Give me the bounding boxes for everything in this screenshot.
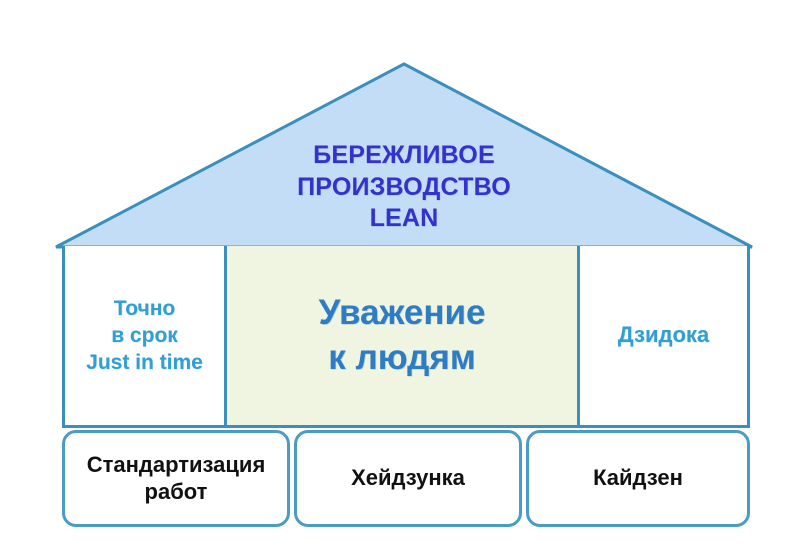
foundation-box-kaizen[interactable]: Кайдзен [526,430,750,527]
pillar-left-line-2: в срок [86,322,203,349]
pillar-left-line-3: Just in time [86,349,203,376]
foundation-box-3-line-1: Кайдзен [593,465,683,492]
roof-title-line-3: LEAN [230,203,578,235]
lean-house-diagram: БЕРЕЖЛИВОЕ ПРОИЗВОДСТВО LEAN Точно в сро… [0,0,807,559]
pillar-left-line-1: Точно [86,295,203,322]
foundation-box-heijunka[interactable]: Хейдзунка [294,430,522,527]
pillar-respect-for-people-label: Уважение к людям [319,291,486,381]
roof-title-line-1: БЕРЕЖЛИВОЕ [230,140,578,172]
roof-title-line-2: ПРОИЗВОДСТВО [230,172,578,204]
foundation-box-standardization[interactable]: Стандартизация работ [62,430,290,527]
house-foundation: Стандартизация работ Хейдзунка Кайдзен [62,430,750,527]
foundation-box-2-line-1: Хейдзунка [351,465,465,492]
pillar-just-in-time-label: Точно в срок Just in time [86,295,203,377]
pillar-center-line-2: к людям [319,336,486,381]
roof-title: БЕРЕЖЛИВОЕ ПРОИЗВОДСТВО LEAN [230,140,578,235]
pillar-jidoka[interactable]: Дзидока [580,246,747,425]
house-body: Точно в срок Just in time Уважение к люд… [62,246,750,428]
foundation-box-1-line-1: Стандартизация [87,452,266,479]
foundation-box-heijunka-label: Хейдзунка [351,465,465,492]
foundation-box-standardization-label: Стандартизация работ [87,452,266,506]
foundation-box-kaizen-label: Кайдзен [593,465,683,492]
pillar-jidoka-label: Дзидока [618,321,709,350]
pillar-center-line-1: Уважение [319,291,486,336]
foundation-box-1-line-2: работ [87,479,266,506]
pillar-just-in-time[interactable]: Точно в срок Just in time [65,246,227,425]
pillar-respect-for-people[interactable]: Уважение к людям [227,246,580,425]
